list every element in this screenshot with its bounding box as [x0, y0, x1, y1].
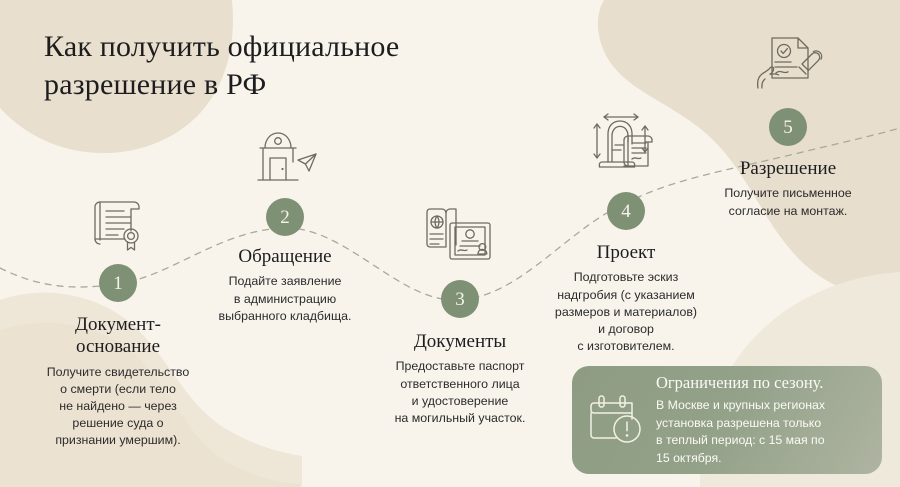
step-4-description: Подготовьте эскиз надгробия (с указанием… [520, 269, 732, 355]
step-1-badge: 1 [99, 264, 137, 302]
passport-id-card-icon [422, 203, 498, 270]
season-restriction-body: В Москве и крупных регионах установка ра… [656, 397, 868, 467]
infographic-canvas: Как получить официальное разрешение в РФ… [0, 0, 900, 487]
hand-stamp-document-icon [750, 28, 826, 97]
step-4-title: Проект [520, 242, 732, 264]
calendar-warning-icon [588, 391, 644, 452]
season-restriction-panel: Ограничения по сезону. В Москве и крупны… [572, 366, 882, 474]
step-5-title: Разрешение [684, 158, 892, 180]
headstone-blueprint-icon [588, 112, 664, 183]
certificate-seal-icon [86, 196, 150, 259]
step-5-description: Получите письменное согласие на монтаж. [684, 185, 892, 219]
season-restriction-title: Ограничения по сезону. [656, 373, 868, 393]
season-restriction-text: Ограничения по сезону. В Москве и крупны… [656, 373, 868, 468]
step-1-description: Получите свидетельство о смерти (если те… [18, 364, 218, 450]
step-3-badge: 3 [441, 280, 479, 318]
page-title: Как получить официальное разрешение в РФ [44, 28, 474, 105]
step-3-description: Предоставьте паспорт ответственного лица… [350, 358, 570, 426]
gate-paper-plane-icon [250, 130, 320, 193]
step-5: 5 Разрешение Получите письменное согласи… [684, 28, 892, 220]
step-2-badge: 2 [266, 198, 304, 236]
step-5-badge: 5 [769, 108, 807, 146]
step-4-badge: 4 [607, 192, 645, 230]
